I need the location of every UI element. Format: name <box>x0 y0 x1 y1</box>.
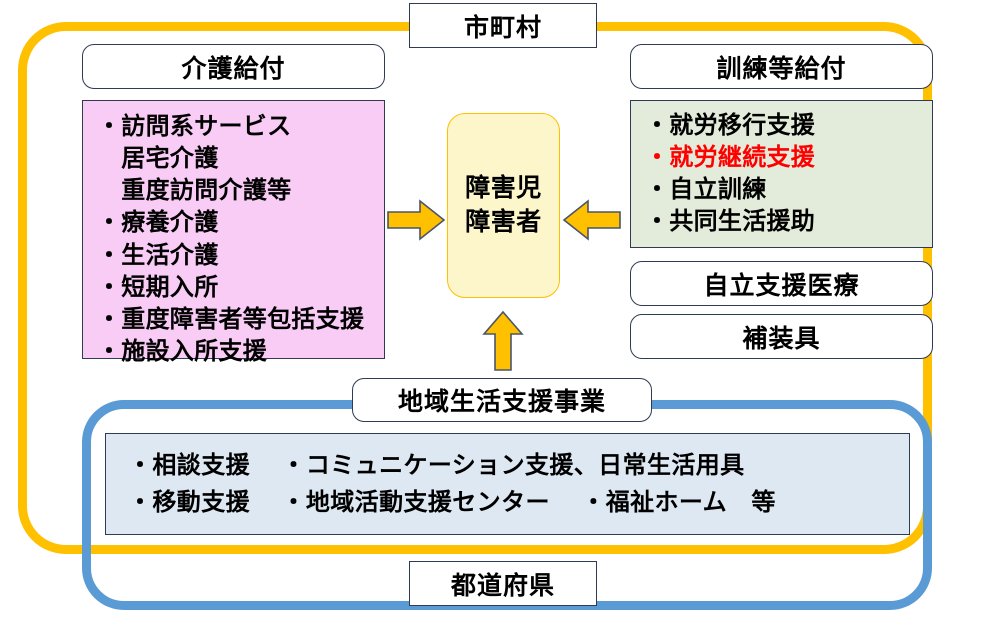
community-support-line: ・相談支援 ・コミュニケーション支援、日常生活用具 <box>128 447 909 484</box>
medical-support-box: 自立支援医療 <box>630 261 933 306</box>
community-support-header-text: 地域生活支援事業 <box>398 382 606 418</box>
training-benefits-header-text: 訓練等給付 <box>716 49 846 85</box>
care-service-item: 重度訪問介護等 <box>97 175 384 207</box>
community-support-line: ・移動支援 ・地域活動支援センター ・福祉ホーム 等 <box>128 484 909 521</box>
prefecture-label-text: 都道府県 <box>451 566 555 602</box>
municipality-label-text: 市町村 <box>464 8 542 44</box>
prosthetics-box: 補装具 <box>630 314 933 359</box>
care-service-item: ・施設入所支援 <box>97 336 384 368</box>
community-support-panel: ・相談支援 ・コミュニケーション支援、日常生活用具 ・移動支援 ・地域活動支援セ… <box>105 433 910 535</box>
care-service-item: ・短期入所 <box>97 272 384 304</box>
training-service-item-highlighted: ・就労継続支援 <box>645 142 932 174</box>
training-benefits-panel: ・就労移行支援 ・就労継続支援 ・自立訓練 ・共同生活援助 <box>630 100 933 248</box>
arrow-left-icon <box>562 198 622 242</box>
care-benefits-panel: ・訪問系サービス 居宅介護 重度訪問介護等 ・療養介護 ・生活介護 ・短期入所 … <box>82 100 385 359</box>
care-benefits-header-text: 介護給付 <box>181 49 285 85</box>
care-service-item: 居宅介護 <box>97 143 384 175</box>
training-service-item: ・共同生活援助 <box>645 206 932 238</box>
care-benefits-header: 介護給付 <box>82 44 385 89</box>
prosthetics-text: 補装具 <box>742 319 820 355</box>
target-person-box: 障害児 障害者 <box>447 113 560 298</box>
care-service-item: ・生活介護 <box>97 240 384 272</box>
training-service-item: ・就労移行支援 <box>645 110 932 142</box>
care-service-item: ・訪問系サービス <box>97 111 384 143</box>
arrow-right-icon <box>386 198 446 242</box>
municipality-label: 市町村 <box>409 3 597 48</box>
prefecture-label: 都道府県 <box>409 561 597 606</box>
training-service-item: ・自立訓練 <box>645 174 932 206</box>
target-person-line-1: 障害児 <box>465 172 542 205</box>
care-service-item: ・重度障害者等包括支援 <box>97 304 384 336</box>
care-service-item: ・療養介護 <box>97 207 384 239</box>
arrow-up-icon <box>481 310 525 372</box>
community-support-header: 地域生活支援事業 <box>352 378 652 422</box>
target-person-line-2: 障害者 <box>465 206 542 239</box>
medical-support-text: 自立支援医療 <box>703 266 859 302</box>
diagram-canvas: 市町村 介護給付 ・訪問系サービス 居宅介護 重度訪問介護等 ・療養介護 ・生活… <box>0 0 1001 630</box>
training-benefits-header: 訓練等給付 <box>630 44 933 89</box>
